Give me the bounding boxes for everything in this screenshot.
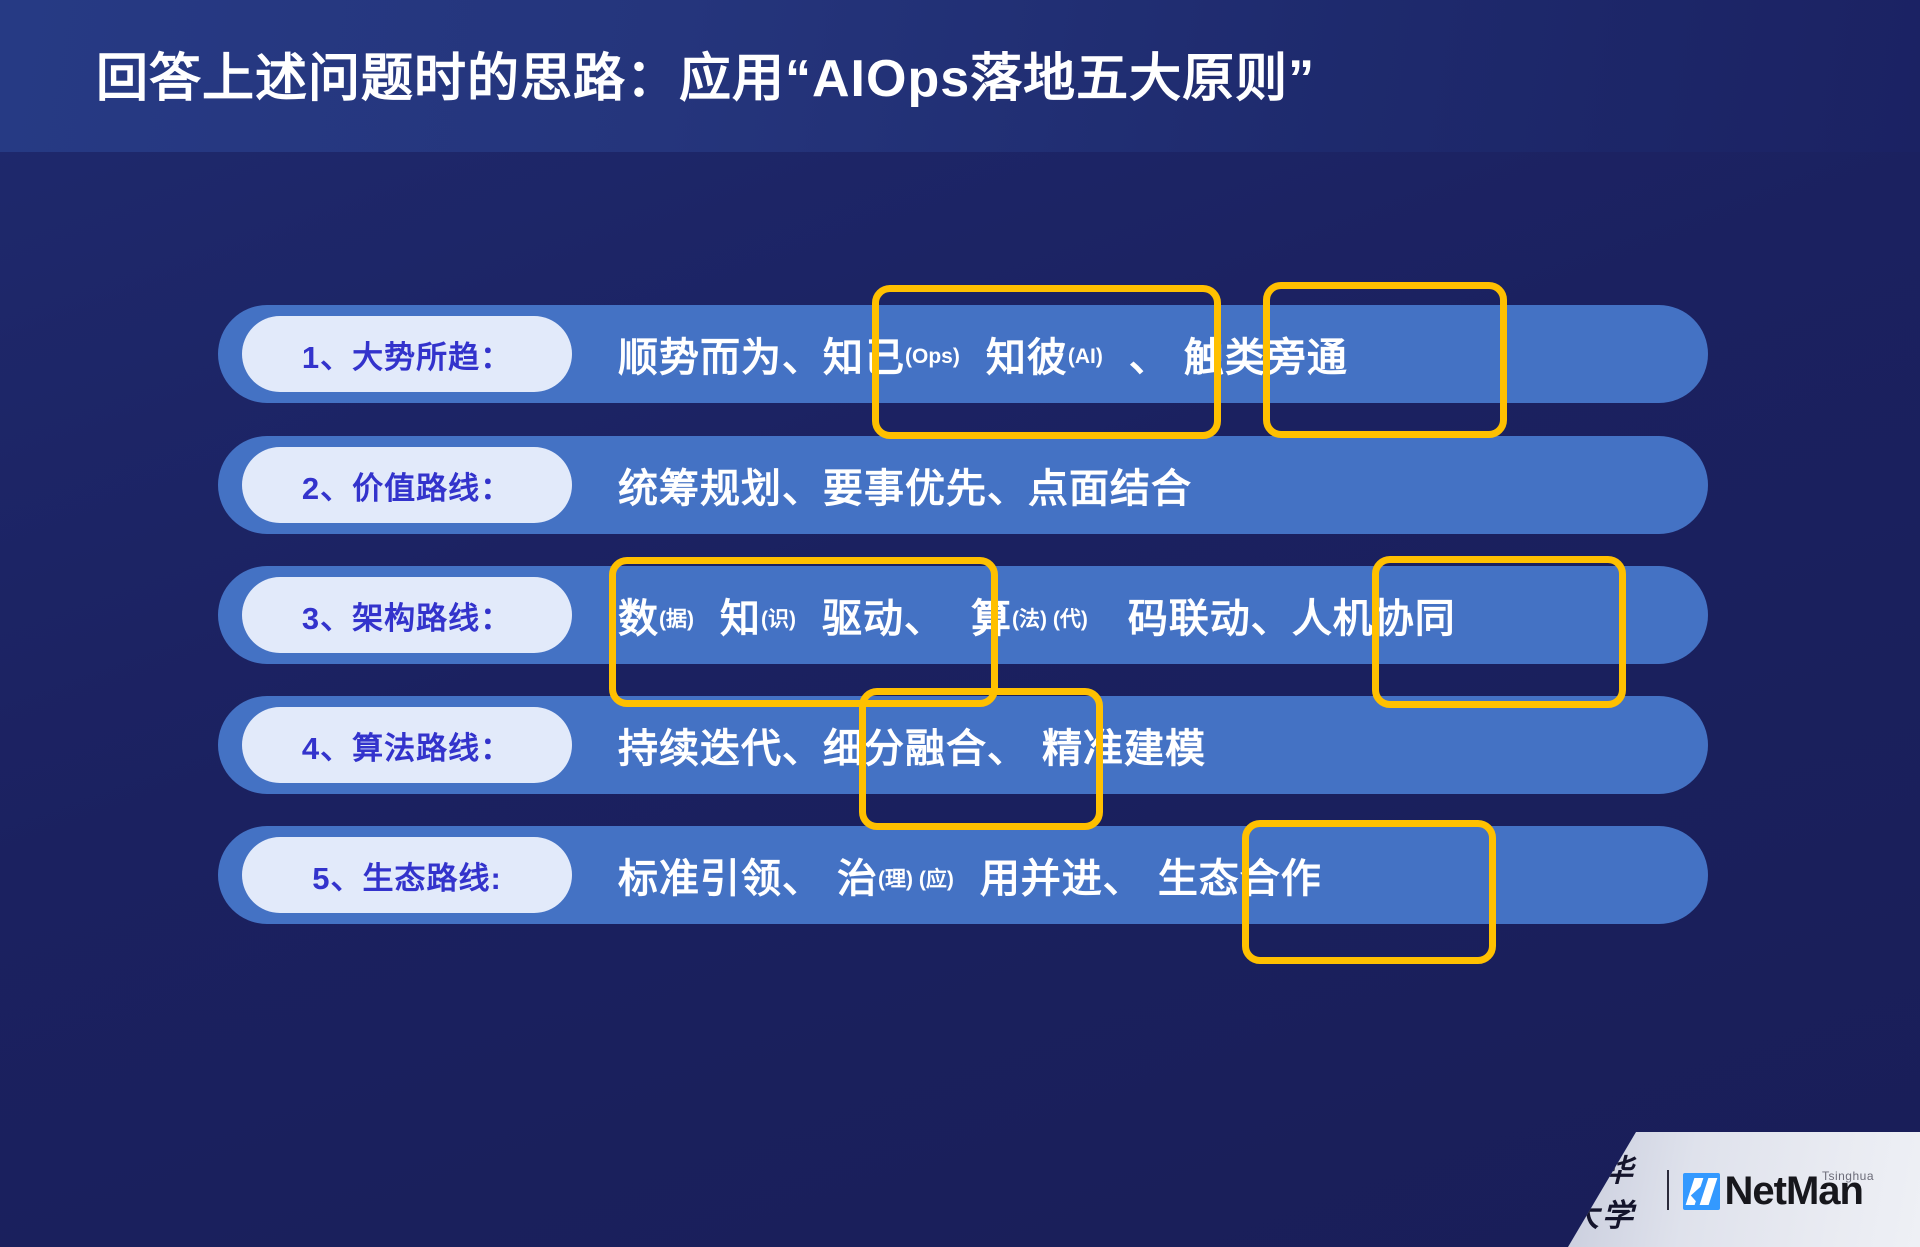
segment-text: 码联动、 bbox=[1128, 586, 1292, 644]
tsinghua-university-wordmark: 清华大学 bbox=[1568, 1145, 1653, 1235]
segment-text: 持续迭代、 bbox=[618, 716, 823, 774]
principle-row-5[interactable]: 5、生态路线: 标准引领、 治(理) (应) 用并进、 生态合作 bbox=[218, 826, 1708, 924]
logo-divider bbox=[1667, 1170, 1668, 1210]
segment-text: 知彼 bbox=[986, 325, 1068, 383]
principle-label-4: 4、算法路线： bbox=[302, 723, 512, 768]
principle-row-1[interactable]: 1、大势所趋： 顺势而为、 知己(Ops) 知彼(AI) 、 触类旁通 bbox=[218, 305, 1708, 403]
netman-logo: NetMan Tsinghua bbox=[1683, 1169, 1920, 1210]
segment-subscript: (法) (代) bbox=[1012, 603, 1088, 633]
netman-superscript: Tsinghua bbox=[1822, 1169, 1874, 1183]
segment-text: 数 bbox=[618, 586, 659, 644]
segment-text: 知 bbox=[720, 586, 761, 644]
segment-text: 治 bbox=[837, 846, 878, 904]
segment-subscript: (Ops) bbox=[905, 345, 960, 369]
segment-text: 人机协同 bbox=[1292, 586, 1456, 644]
principle-row-4[interactable]: 4、算法路线： 持续迭代、 细分融合、 精准建模 bbox=[218, 696, 1708, 794]
footer-logo-bar: 清华大学 NetMan Tsinghua bbox=[1568, 1132, 1920, 1247]
segment-text: 统筹规划、要事优先、点面结合 bbox=[618, 456, 1192, 514]
page-title: 回答上述问题时的思路：应用“AIOps落地五大原则” bbox=[96, 36, 1315, 111]
principle-content-2: 统筹规划、要事优先、点面结合 bbox=[618, 436, 1192, 534]
principle-label-1: 1、大势所趋： bbox=[302, 332, 512, 377]
principle-label-3: 3、架构路线： bbox=[302, 593, 512, 638]
principle-row-3[interactable]: 3、架构路线： 数(据) 知(识) 驱动、 算(法) (代) 码联动、 人机协同 bbox=[218, 566, 1708, 664]
principle-content-5: 标准引领、 治(理) (应) 用并进、 生态合作 bbox=[618, 826, 1322, 924]
segment-text: 精准建模 bbox=[1042, 716, 1206, 774]
slide-canvas: 回答上述问题时的思路：应用“AIOps落地五大原则” 1、大势所趋： 顺势而为、… bbox=[0, 0, 1920, 1247]
principle-label-5: 5、生态路线: bbox=[312, 853, 502, 898]
segment-text: 驱动、 bbox=[822, 586, 945, 644]
segment-text: 细分融合、 bbox=[823, 716, 1028, 774]
netman-mark-icon bbox=[1683, 1173, 1720, 1210]
segment-text: 触类旁通 bbox=[1184, 325, 1348, 383]
segment-text: 算 bbox=[971, 586, 1012, 644]
principle-label-pill-2: 2、价值路线： bbox=[242, 447, 572, 523]
slide-header: 回答上述问题时的思路：应用“AIOps落地五大原则” bbox=[0, 0, 1920, 152]
principle-content-1: 顺势而为、 知己(Ops) 知彼(AI) 、 触类旁通 bbox=[618, 305, 1348, 403]
segment-text: 标准引领、 bbox=[618, 846, 823, 904]
segment-text: 生态合作 bbox=[1158, 846, 1322, 904]
principle-content-3: 数(据) 知(识) 驱动、 算(法) (代) 码联动、 人机协同 bbox=[618, 566, 1456, 664]
segment-text: 用并进、 bbox=[980, 846, 1144, 904]
principle-label-2: 2、价值路线： bbox=[302, 463, 512, 508]
segment-subscript: (据) bbox=[659, 603, 694, 633]
principle-content-4: 持续迭代、 细分融合、 精准建模 bbox=[618, 696, 1206, 794]
principle-label-pill-5: 5、生态路线: bbox=[242, 837, 572, 913]
segment-subscript: (AI) bbox=[1068, 345, 1103, 369]
logo-group: 清华大学 NetMan Tsinghua bbox=[1568, 1145, 1920, 1235]
segment-subscript: (识) bbox=[761, 603, 796, 633]
segment-text: 知己 bbox=[823, 325, 905, 383]
principle-label-pill-3: 3、架构路线： bbox=[242, 577, 572, 653]
segment-text: 、 bbox=[1129, 325, 1170, 383]
segment-text: 顺势而为、 bbox=[618, 325, 823, 383]
principle-label-pill-4: 4、算法路线： bbox=[242, 707, 572, 783]
principle-row-2[interactable]: 2、价值路线： 统筹规划、要事优先、点面结合 bbox=[218, 436, 1708, 534]
segment-subscript: (理) (应) bbox=[878, 863, 954, 893]
principle-label-pill-1: 1、大势所趋： bbox=[242, 316, 572, 392]
